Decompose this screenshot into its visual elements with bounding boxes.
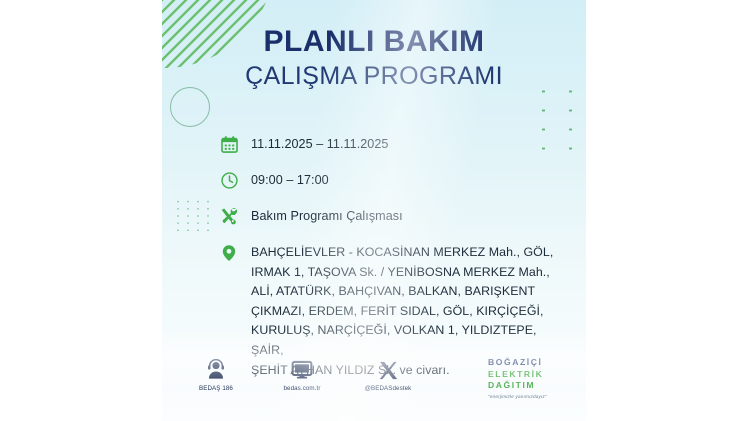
- circle-outline-decoration: [170, 87, 210, 127]
- calendar-icon: [218, 133, 240, 155]
- address-line: ALİ, ATATÜRK, BAHÇIVAN, BALKAN, BARIŞKEN…: [251, 284, 535, 298]
- contact-social[interactable]: @BEDASdestek: [356, 355, 420, 392]
- page-title: PLANLI BAKIM: [162, 26, 586, 58]
- contact-channels: BEDAŞ 186 bedas.com.tr: [184, 355, 420, 392]
- screenshot-root: PLANLI BAKIM ÇALIŞMA PROGRAMI: [0, 0, 750, 421]
- monitor-icon: [270, 355, 334, 381]
- time-range-text: 09:00 – 17:00: [251, 169, 329, 190]
- contact-website-label: bedas.com.tr: [270, 385, 334, 392]
- logo-line-1: BOĞAZİÇİ: [488, 357, 572, 369]
- date-range-text: 11.11.2025 – 11.11.2025: [251, 133, 388, 154]
- contact-phone-label: BEDAŞ 186: [184, 385, 248, 392]
- contact-social-label: @BEDASdestek: [356, 385, 420, 392]
- logo-line-2: ELEKTRİK: [488, 369, 572, 381]
- call-center-agent-icon: [184, 355, 248, 381]
- work-type-text: Bakım Programı Çalışması: [251, 205, 403, 226]
- poster-heading: PLANLI BAKIM ÇALIŞMA PROGRAMI: [162, 26, 586, 90]
- address-line: BAHÇELİEVLER - KOCASİNAN MERKEZ Mah., GÖ…: [251, 245, 553, 259]
- poster-footer: BEDAŞ 186 bedas.com.tr: [162, 355, 586, 411]
- tools-icon: [218, 205, 240, 227]
- address-line: KURULUŞ, NARÇİÇEĞİ, VOLKAN 1, YILDIZTEPE…: [251, 323, 537, 357]
- info-row-date: 11.11.2025 – 11.11.2025: [218, 133, 568, 155]
- bedas-logo: BOĞAZİÇİ ELEKTRİK DAĞITIM "enerjimizle y…: [488, 357, 572, 399]
- logo-tagline: "enerjimizle yanımızdayız": [488, 394, 572, 399]
- logo-line-3: DAĞITIM: [488, 380, 572, 392]
- info-row-worktype: Bakım Programı Çalışması: [218, 205, 568, 227]
- location-pin-icon: [218, 242, 240, 264]
- info-list: 11.11.2025 – 11.11.2025 09:00 – 17:00: [218, 133, 568, 380]
- maintenance-notice-card: PLANLI BAKIM ÇALIŞMA PROGRAMI: [162, 0, 586, 421]
- page-subtitle: ÇALIŞMA PROGRAMI: [162, 62, 586, 90]
- clock-icon: [218, 169, 240, 191]
- contact-website[interactable]: bedas.com.tr: [270, 355, 334, 392]
- dot-grid-left-decoration: [171, 196, 215, 232]
- address-line: ÇIKMAZI, ERDEM, FERİT SIDAL, GÖL, KIRÇİÇ…: [251, 304, 544, 318]
- info-row-time: 09:00 – 17:00: [218, 169, 568, 191]
- address-line: IRMAK 1, TAŞOVA Sk. / YENİBOSNA MERKEZ M…: [251, 265, 550, 279]
- contact-phone[interactable]: BEDAŞ 186: [184, 355, 248, 392]
- x-twitter-icon: [356, 355, 420, 381]
